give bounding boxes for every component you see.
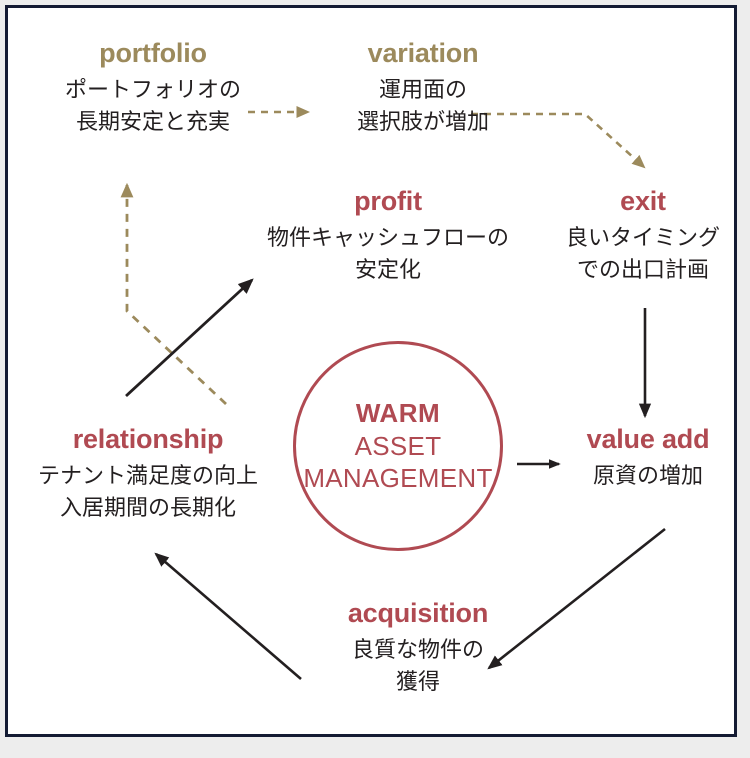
node-exit: exit 良いタイミング での出口計画 (543, 188, 743, 286)
node-variation-description: 運用面の 選択肢が増加 (308, 74, 538, 138)
node-portfolio: portfolio ポートフォリオの 長期安定と充実 (28, 40, 278, 138)
node-portfolio-title: portfolio (28, 40, 278, 67)
node-relationship-desc-line-1: テナント満足度の向上 (18, 460, 278, 492)
node-profit-description: 物件キャッシュフローの 安定化 (253, 222, 523, 286)
center-label-management: MANAGEMENT (303, 462, 492, 495)
node-acquisition-title: acquisition (298, 600, 538, 627)
node-variation-desc-line-1: 運用面の (308, 74, 538, 106)
node-portfolio-description: ポートフォリオの 長期安定と充実 (28, 74, 278, 138)
node-variation: variation 運用面の 選択肢が増加 (308, 40, 538, 138)
connector-relationship-to-portfolio (127, 185, 226, 404)
node-relationship-description: テナント満足度の向上 入居期間の長期化 (18, 460, 278, 524)
center-label-warm: WARM (356, 397, 440, 430)
node-value-add-title: value add (553, 426, 743, 453)
node-relationship-title: relationship (18, 426, 278, 453)
node-portfolio-desc-line-1: ポートフォリオの (28, 74, 278, 106)
center-label-asset: ASSET (355, 430, 442, 463)
node-variation-title: variation (308, 40, 538, 67)
node-value-add-description: 原資の増加 (553, 460, 743, 492)
center-circle: WARM ASSET MANAGEMENT (293, 341, 503, 551)
node-value-add: value add 原資の増加 (553, 426, 743, 492)
node-profit-desc-line-1: 物件キャッシュフローの (253, 222, 523, 254)
node-acquisition-desc-line-1: 良質な物件の (298, 634, 538, 666)
node-acquisition: acquisition 良質な物件の 獲得 (298, 600, 538, 698)
connector-relationship-to-profit (126, 280, 252, 396)
node-profit-title: profit (253, 188, 523, 215)
node-value-add-desc-line-1: 原資の増加 (553, 460, 743, 492)
diagram-frame: WARM ASSET MANAGEMENT portfolio ポートフォリオの… (5, 5, 737, 737)
node-relationship: relationship テナント満足度の向上 入居期間の長期化 (18, 426, 278, 524)
node-relationship-desc-line-2: 入居期間の長期化 (18, 492, 278, 524)
node-exit-desc-line-1: 良いタイミング (543, 222, 743, 254)
node-exit-desc-line-2: での出口計画 (543, 254, 743, 286)
node-acquisition-description: 良質な物件の 獲得 (298, 634, 538, 698)
node-portfolio-desc-line-2: 長期安定と充実 (28, 106, 278, 138)
connector-acquisition-to-relationship (156, 554, 301, 679)
node-exit-description: 良いタイミング での出口計画 (543, 222, 743, 286)
node-profit-desc-line-2: 安定化 (253, 254, 523, 286)
node-exit-title: exit (543, 188, 743, 215)
node-profit: profit 物件キャッシュフローの 安定化 (253, 188, 523, 286)
node-variation-desc-line-2: 選択肢が増加 (308, 106, 538, 138)
node-acquisition-desc-line-2: 獲得 (298, 666, 538, 698)
